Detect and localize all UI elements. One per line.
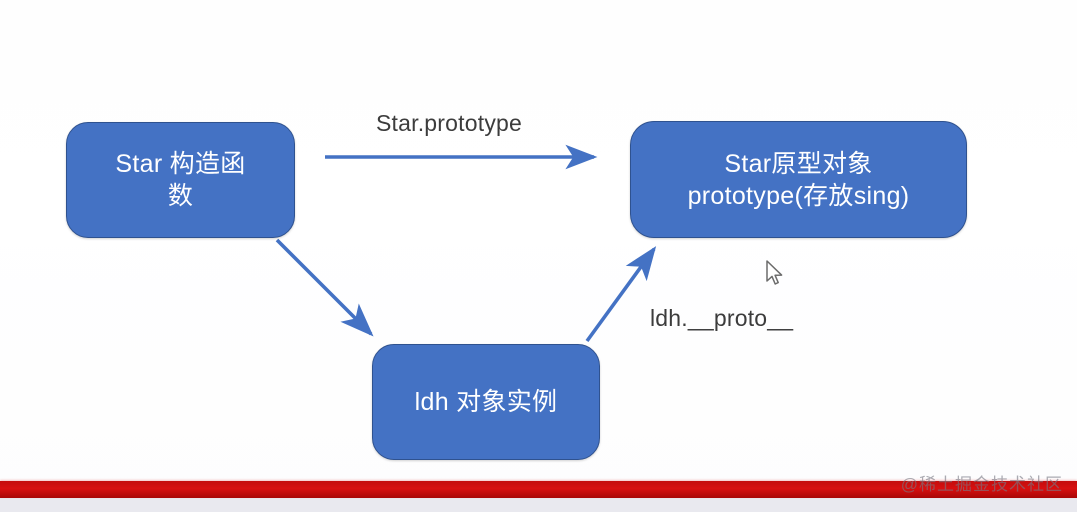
node-star-prototype-object-label: Star原型对象 prototype(存放sing) (678, 148, 920, 212)
node-ldh-instance[interactable]: ldh 对象实例 (372, 344, 600, 460)
edge-label-star-prototype: Star.prototype (376, 110, 522, 137)
watermark-label: @稀土掘金技术社区 (901, 470, 1063, 495)
diagram-screenshot: Star 构造函 数 Star原型对象 prototype(存放sing) ld… (0, 0, 1077, 512)
mouse-pointer-icon (765, 260, 785, 288)
edge-label-ldh-proto: ldh.__proto__ (650, 305, 793, 332)
node-ldh-instance-label: ldh 对象实例 (405, 386, 568, 418)
node-star-constructor-label: Star 构造函 数 (105, 148, 255, 212)
node-star-prototype-object[interactable]: Star原型对象 prototype(存放sing) (630, 121, 967, 238)
node-star-constructor[interactable]: Star 构造函 数 (66, 122, 295, 238)
